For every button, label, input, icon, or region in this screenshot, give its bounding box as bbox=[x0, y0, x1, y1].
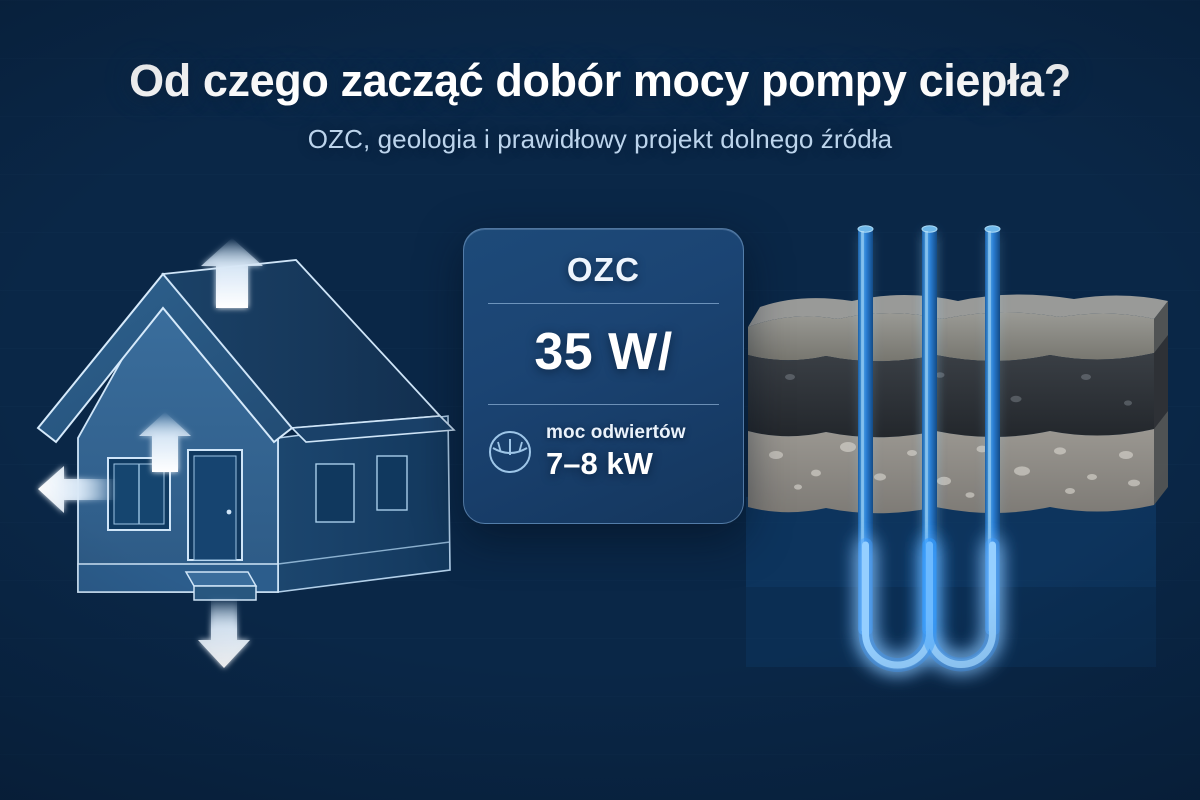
soil-block bbox=[748, 294, 1168, 513]
gauge-icon bbox=[486, 428, 534, 476]
side-window-1 bbox=[316, 464, 354, 522]
gauge-text-block: moc odwiertów 7–8 kW bbox=[546, 423, 686, 480]
infographic-canvas: Od czego zacząć dobór mocy pompy ciepła?… bbox=[0, 0, 1200, 800]
gravel-layer bbox=[748, 429, 1154, 513]
card-divider-top bbox=[488, 303, 719, 304]
heat-loss-arrow-floor-down bbox=[198, 598, 250, 668]
front-door bbox=[188, 450, 242, 560]
borehole-power-label: moc odwiertów bbox=[546, 423, 686, 443]
house-svg bbox=[20, 220, 490, 690]
ground-illustration bbox=[730, 215, 1200, 755]
page-subtitle: OZC, geologia i prawidłowy projekt dolne… bbox=[0, 124, 1200, 155]
ozc-card-title: OZC bbox=[486, 251, 721, 289]
topsoil-layer bbox=[748, 312, 1154, 361]
door-step bbox=[186, 572, 256, 586]
header: Od czego zacząć dobór mocy pompy ciepła?… bbox=[0, 56, 1200, 155]
ozc-card-footer: moc odwiertów 7–8 kW bbox=[486, 423, 721, 480]
page-title: Od czego zacząć dobór mocy pompy ciepła? bbox=[0, 56, 1200, 106]
ozc-value: 35 W/ bbox=[486, 326, 721, 378]
ground-svg bbox=[730, 215, 1200, 755]
dark-clay-layer bbox=[748, 353, 1154, 437]
house-side-wall bbox=[278, 416, 450, 592]
house-illustration bbox=[20, 220, 490, 690]
side-window-2 bbox=[377, 456, 407, 510]
card-divider-bottom bbox=[488, 404, 719, 405]
borehole-power-value: 7–8 kW bbox=[546, 448, 686, 481]
bedrock-layer bbox=[746, 497, 1156, 667]
ozc-card[interactable]: OZC 35 W/ moc odwiertów 7–8 kW bbox=[463, 228, 744, 524]
